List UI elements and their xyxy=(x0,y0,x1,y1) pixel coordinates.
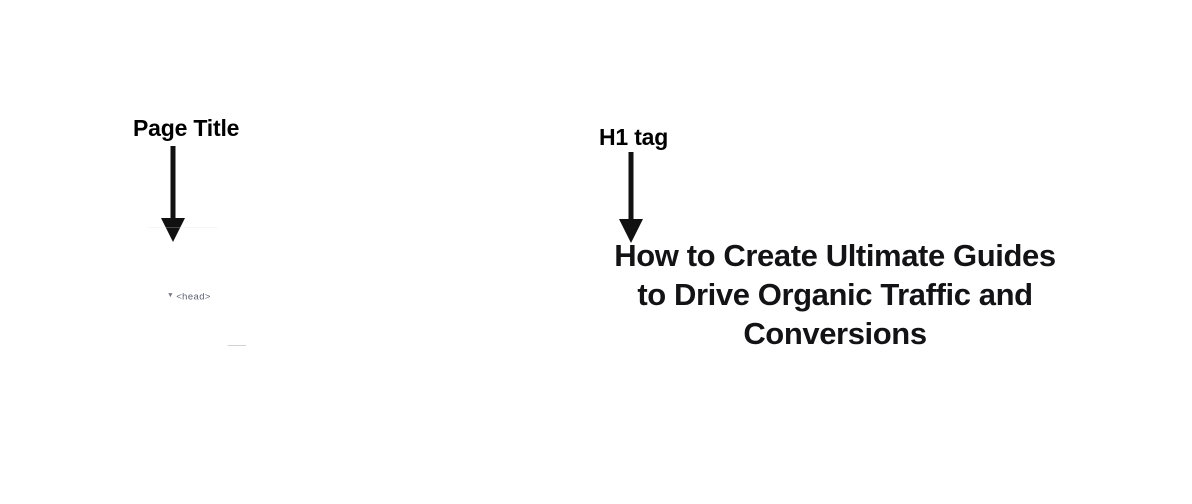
arrow-h1-tag xyxy=(610,150,654,245)
collapsed-content-badge[interactable]: ••• xyxy=(227,345,247,346)
devtools-elements-panel[interactable]: ▼<head> ▶<style>•••</style> <meta charse… xyxy=(130,186,566,346)
annotation-label-page-title: Page Title xyxy=(133,115,239,142)
code-text: <head> xyxy=(176,291,210,302)
code-text: <style> xyxy=(186,345,226,346)
rendered-h1-heading: How to Create Ultimate Guides to Drive O… xyxy=(612,236,1058,353)
screenshot-canvas: Page Title H1 tag ▼<head> ▶<style>•••</s… xyxy=(0,0,1192,504)
code-text-close: </style> xyxy=(248,345,294,346)
annotation-label-h1-tag: H1 tag xyxy=(599,124,668,151)
row-divider-line xyxy=(148,227,218,228)
code-row-partial xyxy=(130,227,566,236)
code-row[interactable]: ▶<style>•••</style> xyxy=(130,330,566,344)
code-row[interactable]: ▼<head> xyxy=(130,276,566,290)
